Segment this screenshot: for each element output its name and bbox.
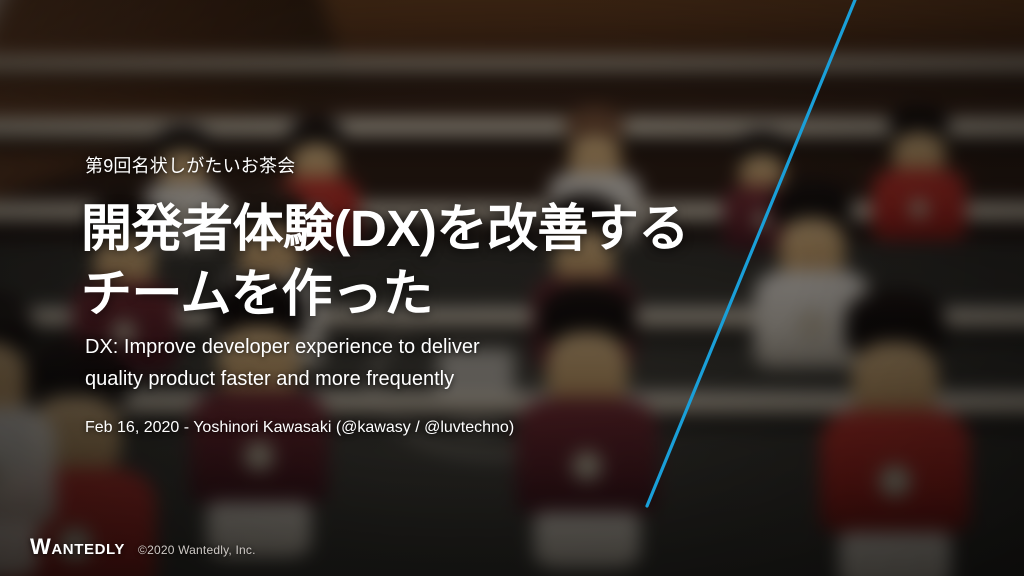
author-and-date: Feb 16, 2020 - Yoshinori Kawasaki (@kawa… [85,419,514,437]
wantedly-logo: Wantedly [30,536,125,558]
subtitle: DX: Improve developer experience to deli… [85,331,480,396]
event-name: 第9回名状しがたいお茶会 [85,152,295,178]
page-title: 開発者体験(DX)を改善する チームを作った [81,196,689,327]
slide-text-block: 第9回名状しがたいお茶会 開発者体験(DX)を改善する チームを作った DX: … [85,0,984,576]
copyright-notice: ©2020 Wantedly, Inc. [138,543,256,557]
subtitle-line-2: quality product faster and more frequent… [85,363,480,395]
page-title-line-2: チームを作った [81,261,689,326]
slide-footer: Wantedly ©2020 Wantedly, Inc. [30,536,256,558]
subtitle-line-1: DX: Improve developer experience to deli… [85,331,480,363]
title-slide: 第9回名状しがたいお茶会 開発者体験(DX)を改善する チームを作った DX: … [0,0,1024,576]
page-title-line-1: 開発者体験(DX)を改善する [81,196,689,261]
